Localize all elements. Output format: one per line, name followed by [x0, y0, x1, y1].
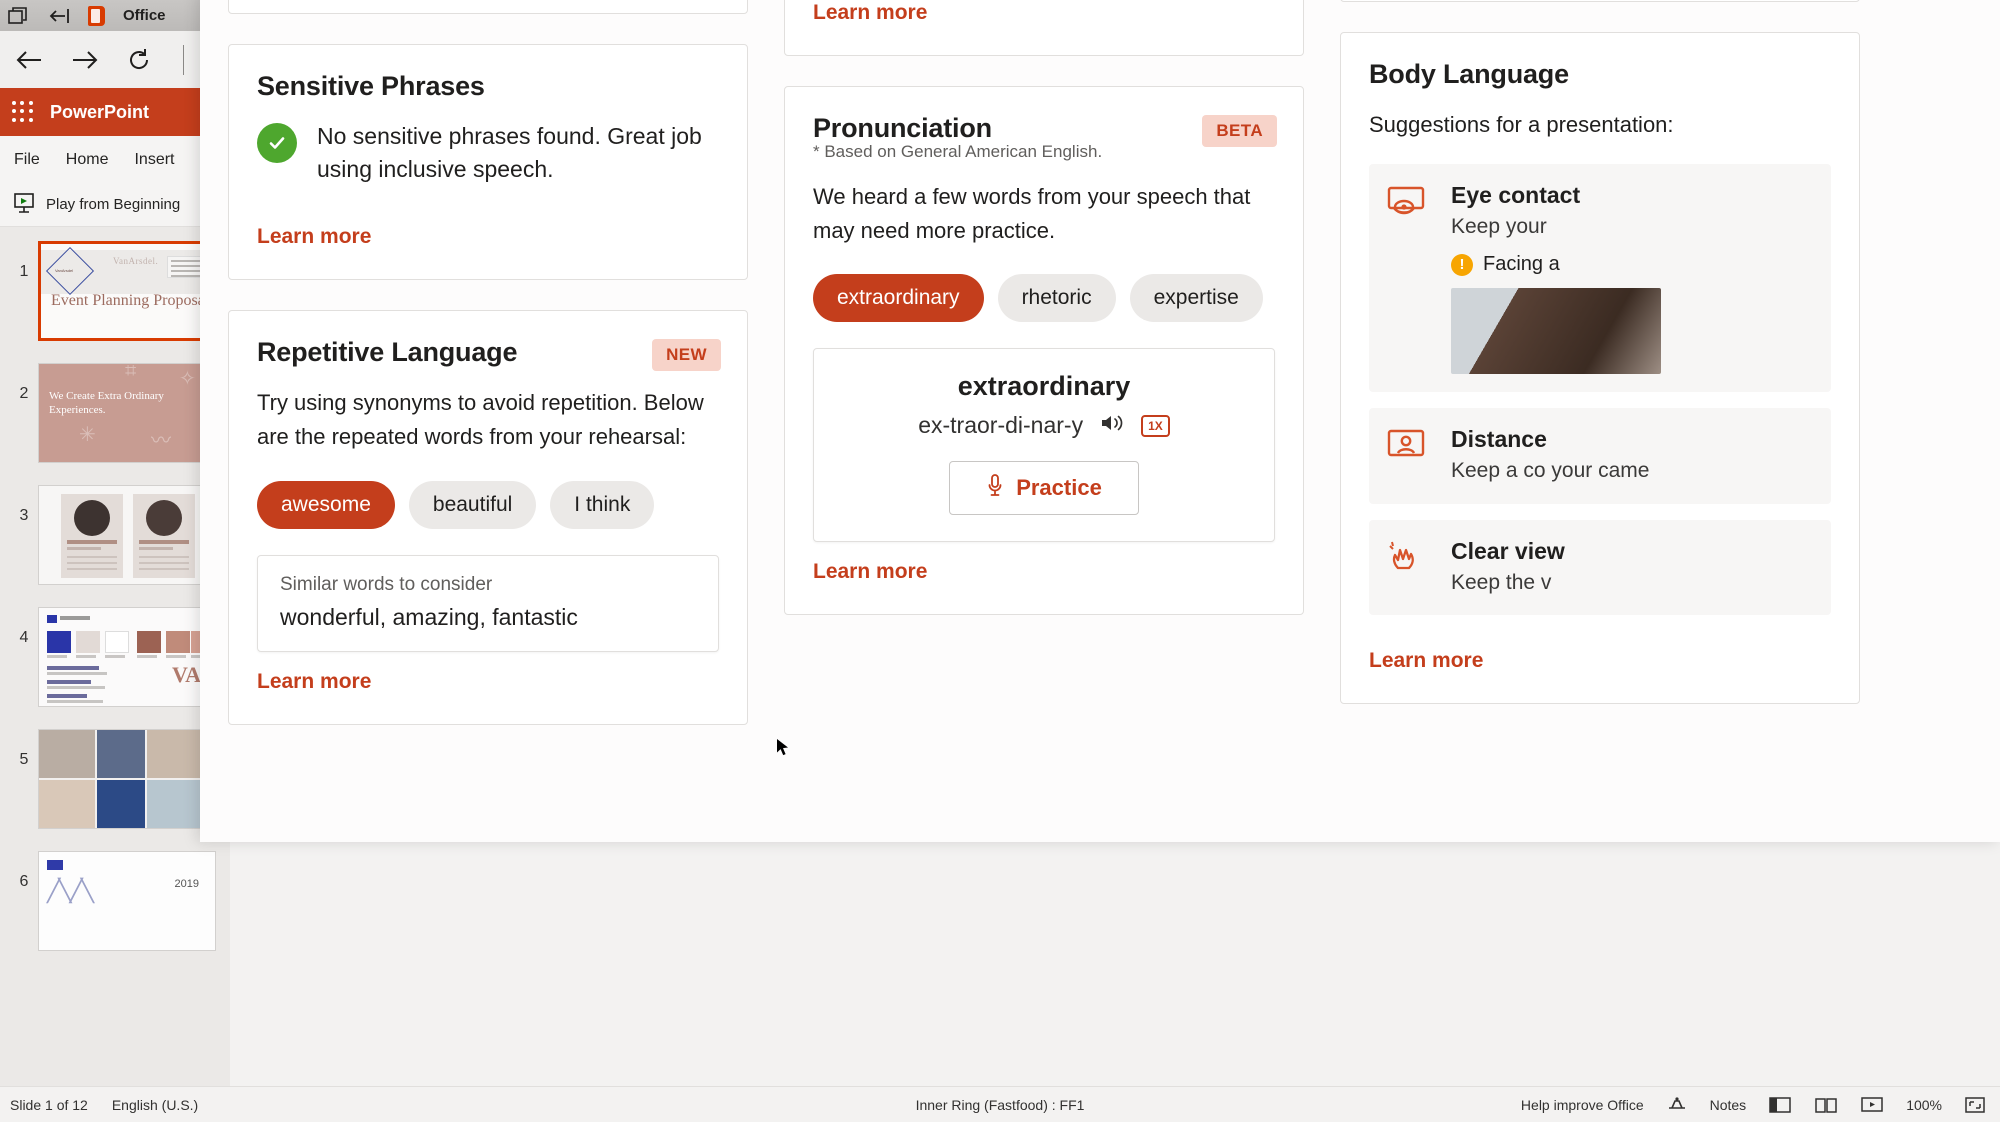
- partial-card-above-3: Learn more: [1340, 0, 1860, 2]
- slide-thumbnail-1[interactable]: VanArsdel VanArsdel. Event Planning Prop…: [38, 241, 216, 341]
- help-improve-office-label[interactable]: Help improve Office: [1521, 1097, 1644, 1113]
- eye-contact-thumbnail: [1451, 288, 1661, 374]
- app-brand-bar: PowerPoint: [0, 88, 230, 136]
- thumbnail-row[interactable]: 4 VA: [0, 607, 230, 707]
- new-badge: NEW: [652, 339, 721, 371]
- coach-column-1: Sensitive Phrases No sensitive phrases f…: [228, 0, 748, 755]
- tile-warning-eye-contact: Facing a: [1483, 253, 1560, 276]
- nav-divider: [183, 45, 184, 75]
- status-bar: Slide 1 of 12 English (U.S.) Inner Ring …: [0, 1086, 2000, 1122]
- ribbon-body: Play from Beginning: [0, 183, 230, 227]
- beta-badge: BETA: [1202, 115, 1277, 147]
- accessibility-icon[interactable]: [1666, 1096, 1688, 1114]
- office-logo-icon: [88, 6, 105, 26]
- pronunciation-detail-box: extraordinary ex-traor-di-nar-y 1X: [813, 348, 1275, 542]
- tile-title-clear-view: Clear view: [1451, 538, 1565, 565]
- detail-word: extraordinary: [834, 371, 1254, 402]
- body-language-body: Suggestions for a presentation:: [1369, 108, 1831, 142]
- slide-indicator[interactable]: Slide 1 of 12: [10, 1097, 88, 1113]
- slide-thumbnail-pane[interactable]: 1 VanArsdel VanArsdel. Event Planning Pr…: [0, 227, 230, 1086]
- pronunciation-word-chips: extraordinary rhetoric expertise: [813, 274, 1275, 322]
- slide-number: 4: [10, 607, 38, 647]
- play-from-beginning-icon[interactable]: [12, 191, 36, 219]
- playback-speed-button[interactable]: 1X: [1141, 415, 1170, 437]
- powerpoint-window: Office H PowerPoint File Home Insert Pla…: [0, 0, 2000, 1122]
- thumbnail-row[interactable]: 6 ╱╲╱╲ 2019: [0, 851, 230, 951]
- chip-i-think[interactable]: I think: [550, 481, 654, 529]
- slide-1-title: Event Planning Proposal: [51, 292, 209, 310]
- distance-icon: [1385, 426, 1431, 485]
- pronunciation-learn-more[interactable]: Learn more: [813, 560, 927, 584]
- slide-thumbnail-3[interactable]: [38, 485, 216, 585]
- body-language-title: Body Language: [1369, 59, 1831, 90]
- practice-button-label: Practice: [1016, 475, 1102, 501]
- chip-extraordinary[interactable]: extraordinary: [813, 274, 984, 322]
- chip-expertise[interactable]: expertise: [1130, 274, 1263, 322]
- notes-label[interactable]: Notes: [1710, 1097, 1747, 1113]
- similar-words-label: Similar words to consider: [280, 574, 696, 596]
- tab-insert[interactable]: Insert: [134, 151, 174, 169]
- slide-number: 6: [10, 851, 38, 891]
- sensitive-phrases-card: Sensitive Phrases No sensitive phrases f…: [228, 44, 748, 280]
- refresh-button[interactable]: [126, 43, 153, 77]
- thumbnail-row[interactable]: 5: [0, 729, 230, 829]
- navigation-bar: H: [0, 31, 230, 88]
- slide-6-year: 2019: [175, 878, 199, 890]
- tile-title-distance: Distance: [1451, 426, 1649, 453]
- partial-card-learn-more[interactable]: Learn more: [813, 1, 927, 25]
- forward-button[interactable]: [70, 43, 100, 77]
- repetitive-language-learn-more[interactable]: Learn more: [257, 670, 371, 694]
- fit-slide-icon[interactable]: [1964, 1096, 1986, 1114]
- slide-number: 3: [10, 485, 38, 525]
- coach-column-3: Learn more Body Language Suggestions for…: [1340, 0, 1860, 734]
- slide-2-title: We Create Extra Ordinary Experiences.: [49, 390, 215, 418]
- body-language-learn-more[interactable]: Learn more: [1369, 649, 1483, 673]
- app-launcher-icon[interactable]: [12, 101, 34, 123]
- app-title: PowerPoint: [50, 102, 149, 123]
- status-center-text: Inner Ring (Fastfood) : FF1: [916, 1097, 1085, 1113]
- thumbnail-row[interactable]: 2 ⌗ ✧ ✳ 〰 We Create Extra Ordinary Exper…: [0, 363, 230, 463]
- slide-thumbnail-6[interactable]: ╱╲╱╲ 2019: [38, 851, 216, 951]
- clear-view-icon: [1385, 538, 1431, 597]
- coach-column-2: Learn more BETA Pronunciation * Based on…: [784, 0, 1304, 645]
- slide-number: 1: [10, 241, 38, 281]
- slide-thumbnail-2[interactable]: ⌗ ✧ ✳ 〰 We Create Extra Ordinary Experie…: [38, 363, 216, 463]
- chip-awesome[interactable]: awesome: [257, 481, 395, 529]
- play-from-beginning-label[interactable]: Play from Beginning: [46, 196, 180, 213]
- sensitive-phrases-title: Sensitive Phrases: [257, 71, 719, 102]
- body-language-tile-distance: Distance Keep a co your came: [1369, 408, 1831, 503]
- warning-icon: !: [1451, 254, 1473, 276]
- thumbnail-row[interactable]: 3: [0, 485, 230, 585]
- slideshow-icon[interactable]: [1860, 1095, 1884, 1115]
- eye-contact-icon: [1385, 182, 1431, 374]
- reading-view-icon[interactable]: [1814, 1095, 1838, 1115]
- collapse-pane-icon[interactable]: [48, 6, 70, 26]
- body-language-card: Body Language Suggestions for a presenta…: [1340, 32, 1860, 704]
- sensitive-phrases-status: No sensitive phrases found. Great job us…: [317, 120, 719, 185]
- slide-thumbnail-4[interactable]: VA: [38, 607, 216, 707]
- slide-number: 5: [10, 729, 38, 769]
- check-circle-icon: [257, 123, 297, 163]
- detail-phonetic: ex-traor-di-nar-y: [918, 412, 1083, 439]
- repetitive-language-card: NEW Repetitive Language Try using synony…: [228, 310, 748, 724]
- tab-file[interactable]: File: [14, 151, 40, 169]
- partial-card-above: [228, 0, 748, 14]
- similar-words-value: wonderful, amazing, fantastic: [280, 604, 696, 631]
- back-button[interactable]: [14, 43, 44, 77]
- practice-button[interactable]: Practice: [949, 461, 1139, 515]
- chip-rhetoric[interactable]: rhetoric: [998, 274, 1116, 322]
- body-language-tile-eye-contact: Eye contact Keep your ! Facing a: [1369, 164, 1831, 392]
- repetitive-language-title: Repetitive Language: [257, 337, 719, 368]
- language-indicator[interactable]: English (U.S.): [112, 1097, 198, 1113]
- pronunciation-body: We heard a few words from your speech th…: [813, 180, 1275, 248]
- partial-card-above-2: Learn more: [784, 0, 1304, 56]
- chip-beautiful[interactable]: beautiful: [409, 481, 536, 529]
- repetitive-language-body: Try using synonyms to avoid repetition. …: [257, 386, 719, 454]
- speaker-coach-panel: Sensitive Phrases No sensitive phrases f…: [200, 0, 2000, 842]
- pronunciation-card: BETA Pronunciation * Based on General Am…: [784, 86, 1304, 615]
- body-language-tile-clear-view: Clear view Keep the v: [1369, 520, 1831, 615]
- slide-thumbnail-5[interactable]: [38, 729, 216, 829]
- normal-view-icon[interactable]: [1768, 1095, 1792, 1115]
- similar-words-box: Similar words to consider wonderful, ama…: [257, 555, 719, 652]
- restore-window-icon[interactable]: [8, 6, 30, 26]
- speaker-icon[interactable]: [1099, 412, 1125, 439]
- tile-text-clear-view: Keep the v: [1451, 569, 1565, 597]
- tile-text-distance: Keep a co your came: [1451, 457, 1649, 485]
- tile-title-eye-contact: Eye contact: [1451, 182, 1661, 209]
- office-label: Office: [123, 7, 166, 24]
- tab-home[interactable]: Home: [66, 151, 109, 169]
- zoom-level[interactable]: 100%: [1906, 1097, 1942, 1113]
- sensitive-phrases-learn-more[interactable]: Learn more: [257, 225, 371, 249]
- thumbnail-row[interactable]: 1 VanArsdel VanArsdel. Event Planning Pr…: [0, 241, 230, 341]
- window-titlebar: Office: [0, 0, 230, 31]
- slide-number: 2: [10, 363, 38, 403]
- microphone-icon: [986, 473, 1004, 504]
- ribbon-tabs: File Home Insert: [0, 136, 230, 183]
- tile-text-eye-contact: Keep your: [1451, 213, 1661, 241]
- repeated-word-chips: awesome beautiful I think: [257, 481, 719, 529]
